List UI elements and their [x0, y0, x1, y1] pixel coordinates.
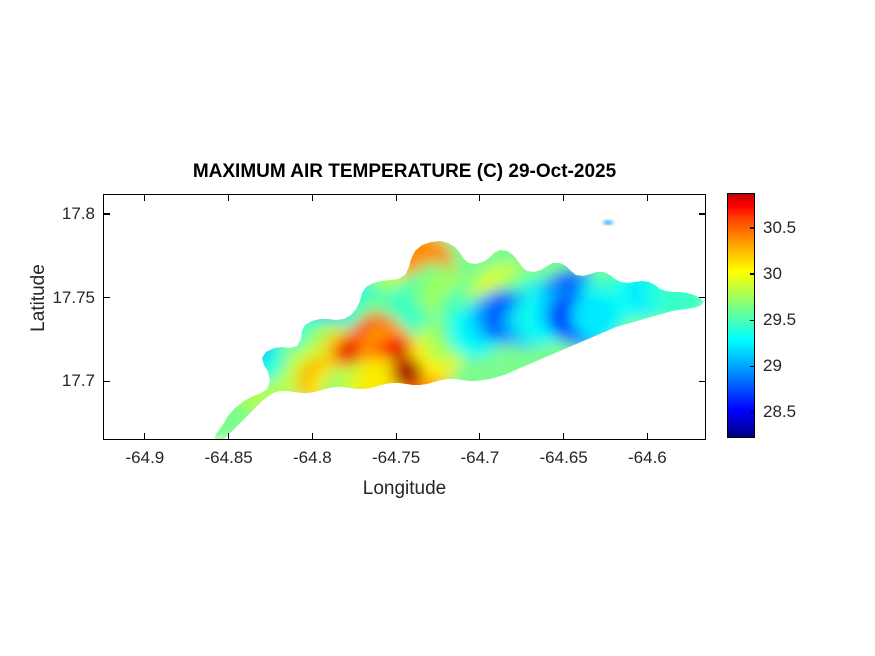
y-tick-label: 17.75 [7, 288, 95, 308]
y-axis-label: Latitude [28, 238, 50, 358]
x-tick-top [563, 194, 564, 201]
colorbar-tick [750, 320, 755, 321]
x-tick-top [396, 194, 397, 201]
x-tick-bottom [312, 433, 313, 440]
colorbar-tick-label: 29 [763, 356, 782, 376]
x-axis-label: Longitude [103, 478, 706, 500]
x-tick-bottom [228, 433, 229, 440]
figure-canvas: MAXIMUM AIR TEMPERATURE (C) 29-Oct-2025 [0, 0, 875, 656]
x-tick-top [479, 194, 480, 201]
y-tick-label: 17.8 [7, 204, 95, 224]
x-tick-bottom [396, 433, 397, 440]
colorbar-tick [750, 227, 755, 228]
x-tick-bottom [563, 433, 564, 440]
colorbar-tick [750, 273, 755, 274]
map-axes[interactable] [103, 194, 706, 440]
x-tick-bottom [144, 433, 145, 440]
x-tick-label: -64.65 [540, 448, 588, 468]
y-tick-right [699, 213, 706, 214]
x-tick-top [228, 194, 229, 201]
colorbar-tick-label: 29.5 [763, 310, 796, 330]
colorbar-tick [750, 366, 755, 367]
colorbar-tick-label: 30 [763, 264, 782, 284]
y-tick-left [103, 297, 110, 298]
colorbar[interactable] [727, 193, 755, 438]
x-tick-top [312, 194, 313, 201]
y-tick-left [103, 381, 110, 382]
colorbar-tick-label: 28.5 [763, 402, 796, 422]
x-tick-label: -64.6 [628, 448, 667, 468]
x-tick-label: -64.7 [461, 448, 500, 468]
x-tick-label: -64.8 [293, 448, 332, 468]
y-tick-label: 17.7 [7, 371, 95, 391]
x-tick-bottom [647, 433, 648, 440]
x-tick-bottom [479, 433, 480, 440]
temperature-field [104, 195, 706, 440]
y-tick-right [699, 297, 706, 298]
page-title: MAXIMUM AIR TEMPERATURE (C) 29-Oct-2025 [103, 161, 706, 183]
colorbar-tick [750, 412, 755, 413]
x-tick-top [144, 194, 145, 201]
colorbar-tick-label: 30.5 [763, 218, 796, 238]
x-tick-label: -64.85 [205, 448, 253, 468]
y-tick-left [103, 213, 110, 214]
x-tick-label: -64.75 [372, 448, 420, 468]
x-tick-top [647, 194, 648, 201]
x-tick-label: -64.9 [126, 448, 165, 468]
y-tick-right [699, 381, 706, 382]
